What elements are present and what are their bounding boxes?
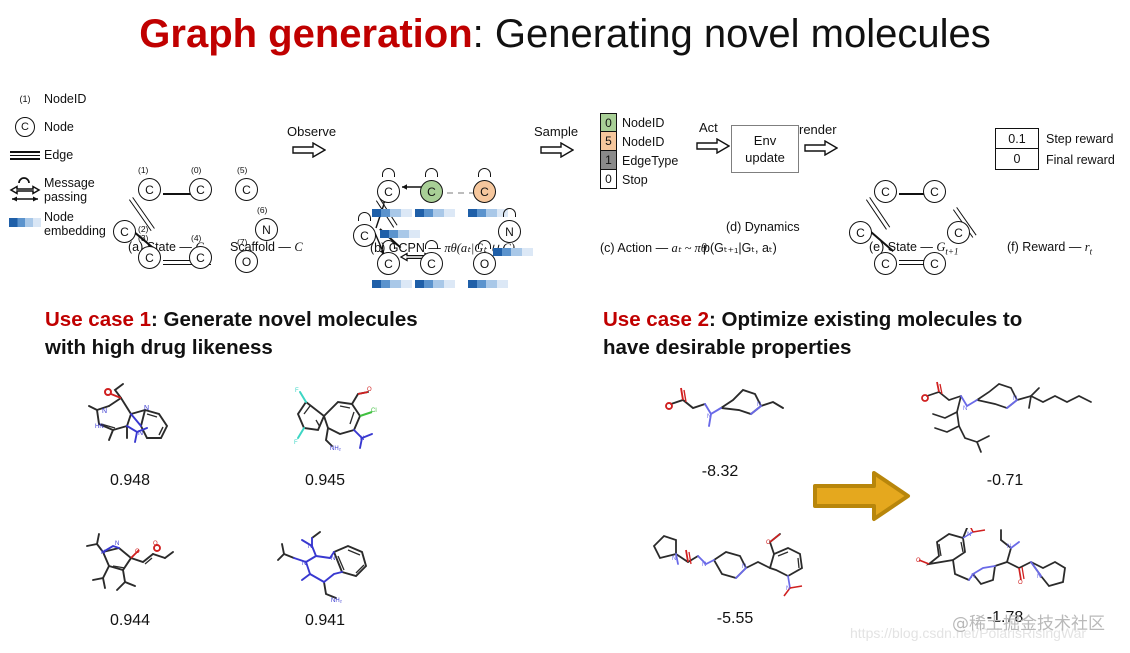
molecule-structure-uc2-1: N N <box>653 380 788 445</box>
node-id-0: (0) <box>191 165 201 175</box>
reward-label-0: Step reward <box>1046 132 1113 146</box>
node-id-1: (1) <box>138 165 148 175</box>
molecule-uc2-before-1: N N -8.32 <box>640 380 800 481</box>
gcpn-node-2-selected: C <box>473 180 496 203</box>
svg-text:N: N <box>101 550 105 556</box>
graph-node-1: C <box>138 178 161 201</box>
arrow-label-sample: Sample <box>534 124 578 139</box>
next-node-2: C <box>849 221 872 244</box>
molecule-uc1-1: N HN N N 0.948 <box>60 380 200 490</box>
sample-arrow-icon <box>540 142 574 158</box>
render-arrow-icon <box>804 140 838 156</box>
use-case-1: Use case 1: Generate novel molecules wit… <box>45 306 585 362</box>
molecule-score-uc2-before-2: -5.55 <box>640 610 830 628</box>
molecule-structure-4: N N N NH₂ <box>268 528 383 610</box>
svg-text:O: O <box>1018 580 1023 586</box>
selfloop-icon-5 <box>425 240 438 249</box>
svg-text:N: N <box>308 544 312 550</box>
graph-node-5: C <box>235 178 258 201</box>
node-id-3: (3) <box>138 233 148 243</box>
gcpn-node-6: N <box>498 220 521 243</box>
svg-text:O: O <box>367 387 372 393</box>
reward-value-1: 0 <box>995 149 1039 170</box>
arrow-label-render: render <box>799 122 837 137</box>
svg-text:HN: HN <box>95 424 104 430</box>
selfloop-icon-6 <box>503 208 516 217</box>
molecule-score-uc2-before-1: -8.32 <box>640 463 800 481</box>
svg-text:NH₂: NH₂ <box>330 446 342 452</box>
graph-node-0: C <box>189 178 212 201</box>
reward-label-1: Final reward <box>1046 153 1115 167</box>
selfloop-icon-7 <box>478 240 491 249</box>
action-value-3: 0 <box>600 170 617 189</box>
graph-node-7: O <box>235 250 258 273</box>
svg-text:N: N <box>702 562 706 568</box>
embedding-bar-5 <box>415 280 455 288</box>
svg-text:O: O <box>766 540 771 546</box>
molecule-score-2: 0.945 <box>255 472 395 490</box>
gcpn-node-0: C <box>377 180 400 203</box>
reward-box: 0.1 Step reward 0 Final reward <box>995 128 1115 170</box>
node-id-4: (4) <box>191 233 201 243</box>
node-id-6: (6) <box>257 205 267 215</box>
use-case-2-heading-accent: Use case 2 <box>603 308 709 331</box>
arrow-label-act: Act <box>699 120 718 135</box>
pipeline-diagram: (1) C (0) C (2) C (3) C (4) C (5) C (6) … <box>0 80 1130 260</box>
page-title-rest: : Generating novel molecules <box>473 12 991 56</box>
molecule-uc2-after-1: N N -0.71 <box>905 378 1105 490</box>
svg-text:O: O <box>135 549 140 555</box>
molecule-structure-2: F F Cl O N NH₂ <box>270 380 380 470</box>
selfloop-icon-0 <box>382 168 395 177</box>
gcpn-node-1-selected: C <box>420 180 443 203</box>
graph-node-4: C <box>189 246 212 269</box>
page-title-accent: Graph generation <box>139 12 472 56</box>
action-box: 0 NodeID 5 NodeID 1 EdgeType 0 Stop <box>600 113 678 189</box>
graph-node-6: N <box>255 218 278 241</box>
next-node-1: C <box>923 180 946 203</box>
molecule-uc1-4: N N N NH₂ 0.941 <box>255 528 395 630</box>
svg-text:N: N <box>971 574 975 580</box>
use-case-1-heading: Use case 1: Generate novel molecules <box>45 306 585 334</box>
use-case-2: Use case 2: Optimize existing molecules … <box>603 306 1128 362</box>
svg-text:N: N <box>757 402 761 408</box>
action-value-0: 0 <box>600 113 617 132</box>
svg-text:N: N <box>138 430 143 437</box>
use-case-1-heading-rest: : Generate novel molecules <box>151 308 418 331</box>
gcpn-node-3: C <box>353 224 376 247</box>
svg-text:F: F <box>294 440 298 446</box>
molecule-score-4: 0.941 <box>255 612 395 630</box>
svg-text:N: N <box>967 532 971 538</box>
svg-text:N: N <box>963 406 967 412</box>
svg-text:N: N <box>102 408 107 415</box>
svg-text:N: N <box>302 561 306 567</box>
gcpn-node-7: O <box>473 252 496 275</box>
molecule-uc1-3: N N O O 0.944 <box>60 528 200 630</box>
next-node-3: C <box>947 221 970 244</box>
selfloop-icon-4 <box>382 240 395 249</box>
reward-row-0: 0.1 Step reward <box>995 128 1115 149</box>
reward-value-0: 0.1 <box>995 128 1039 149</box>
graph-node-2: C <box>113 220 136 243</box>
act-arrow-icon <box>696 138 730 154</box>
caption-d-dynamics-line2: p(Gₜ₊₁|Gₜ, aₜ) <box>703 240 777 255</box>
svg-text:N: N <box>115 541 119 547</box>
optimize-arrow-icon <box>812 470 912 527</box>
embedding-bar-2 <box>468 209 508 217</box>
action-value-2: 1 <box>600 151 617 170</box>
molecule-structure-1: N HN N N <box>75 380 185 470</box>
graph-node-3: C <box>138 246 161 269</box>
svg-text:O: O <box>153 541 158 547</box>
node-id-7: (7) <box>237 237 247 247</box>
svg-text:N: N <box>707 414 711 420</box>
action-label-2: EdgeType <box>622 154 678 168</box>
svg-text:N: N <box>331 556 335 562</box>
embedding-bar-6 <box>493 248 533 256</box>
action-value-1: 5 <box>600 132 617 151</box>
env-update-box: Env update <box>731 125 799 173</box>
molecule-uc2-before-2: N N N O N -5.55 <box>640 530 830 628</box>
candidate-link-dashed <box>447 192 475 194</box>
gcpn-node-4: C <box>377 252 400 275</box>
svg-text:N: N <box>672 556 676 562</box>
molecule-structure-3: N N O O <box>73 528 188 610</box>
selfloop-icon-1 <box>425 168 438 177</box>
embedding-bar-3 <box>380 230 420 238</box>
caption-c-action: (c) Action — aₜ ~ πθ <box>600 240 707 256</box>
use-case-2-heading: Use case 2: Optimize existing molecules … <box>603 306 1128 334</box>
svg-text:N: N <box>1013 396 1017 402</box>
embedding-bar-4 <box>372 280 412 288</box>
caption-d-dynamics-line1: (d) Dynamics <box>726 220 800 234</box>
observe-arrow-icon <box>292 142 326 158</box>
action-row-2: 1 EdgeType <box>600 151 678 170</box>
embedding-bar-7 <box>468 280 508 288</box>
svg-text:O: O <box>916 558 921 564</box>
next-node-5: C <box>923 252 946 275</box>
molecule-structure-uc2-3: N N N O N <box>650 530 820 602</box>
molecule-uc1-2: F F Cl O N NH₂ 0.945 <box>255 380 395 490</box>
env-box-line2: update <box>745 149 785 166</box>
use-case-1-heading-line2: with high drug likeness <box>45 334 585 362</box>
action-row-1: 5 NodeID <box>600 132 678 151</box>
watermark-brand: @稀土掘金技术社区 <box>952 609 1105 634</box>
molecule-score-uc2-after-1: -0.71 <box>905 472 1105 490</box>
svg-text:N: N <box>1007 544 1011 550</box>
svg-text:N: N <box>742 564 746 570</box>
svg-text:N: N <box>144 405 149 412</box>
action-label-3: Stop <box>622 173 648 187</box>
page-title: Graph generation: Generating novel molec… <box>0 8 1130 60</box>
action-row-0: 0 NodeID <box>600 113 678 132</box>
arrow-label-observe: Observe <box>287 124 336 139</box>
svg-text:Cl: Cl <box>371 408 377 414</box>
embedding-bar-0 <box>372 209 412 217</box>
gcpn-node-5: C <box>420 252 443 275</box>
slide-root: Graph generation: Generating novel molec… <box>0 0 1130 653</box>
svg-text:NH₂: NH₂ <box>331 598 343 604</box>
svg-text:N: N <box>1037 574 1041 580</box>
molecule-structure-uc2-2: N N <box>913 378 1098 458</box>
molecule-score-3: 0.944 <box>60 612 200 630</box>
use-case-2-heading-rest: : Optimize existing molecules to <box>709 308 1022 331</box>
env-box-line1: Env <box>754 132 776 149</box>
svg-text:N: N <box>360 436 364 442</box>
selfloop-icon-3 <box>358 212 371 221</box>
action-row-3: 0 Stop <box>600 170 678 189</box>
molecule-structure-uc2-4: N O N N N O <box>915 528 1095 603</box>
molecule-score-1: 0.948 <box>60 472 200 490</box>
caption-f-reward: (f) Reward — rt <box>1007 240 1092 257</box>
use-case-2-heading-line2: have desirable properties <box>603 334 1128 362</box>
reward-row-1: 0 Final reward <box>995 149 1115 170</box>
node-id-5: (5) <box>237 165 247 175</box>
selfloop-icon-2 <box>478 168 491 177</box>
action-label-1: NodeID <box>622 135 664 149</box>
action-label-0: NodeID <box>622 116 664 130</box>
embedding-bar-1 <box>415 209 455 217</box>
next-node-4: C <box>874 252 897 275</box>
svg-text:N: N <box>786 586 790 592</box>
next-node-0: C <box>874 180 897 203</box>
svg-text:F: F <box>295 388 299 394</box>
use-case-1-heading-accent: Use case 1 <box>45 308 151 331</box>
